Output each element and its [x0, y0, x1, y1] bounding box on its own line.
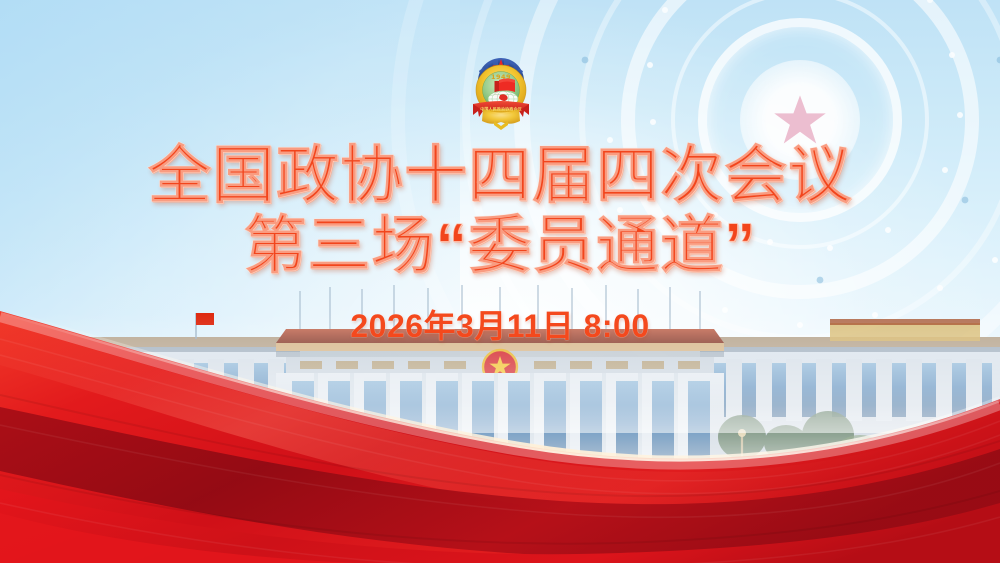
banner-stage: 1949 — [0, 0, 1000, 563]
cppcc-emblem: 1949 — [468, 46, 534, 134]
page-title-line-1: 全国政协十四届四次会议 — [0, 144, 1000, 208]
event-datetime: 2026年3月11日 8:00 — [0, 301, 1000, 347]
page-title-line-2: 第三场“委员通道” — [0, 214, 1000, 278]
title-block: 全国政协十四届四次会议 第三场“委员通道” 2026年3月11日 8:00 — [0, 144, 1000, 347]
